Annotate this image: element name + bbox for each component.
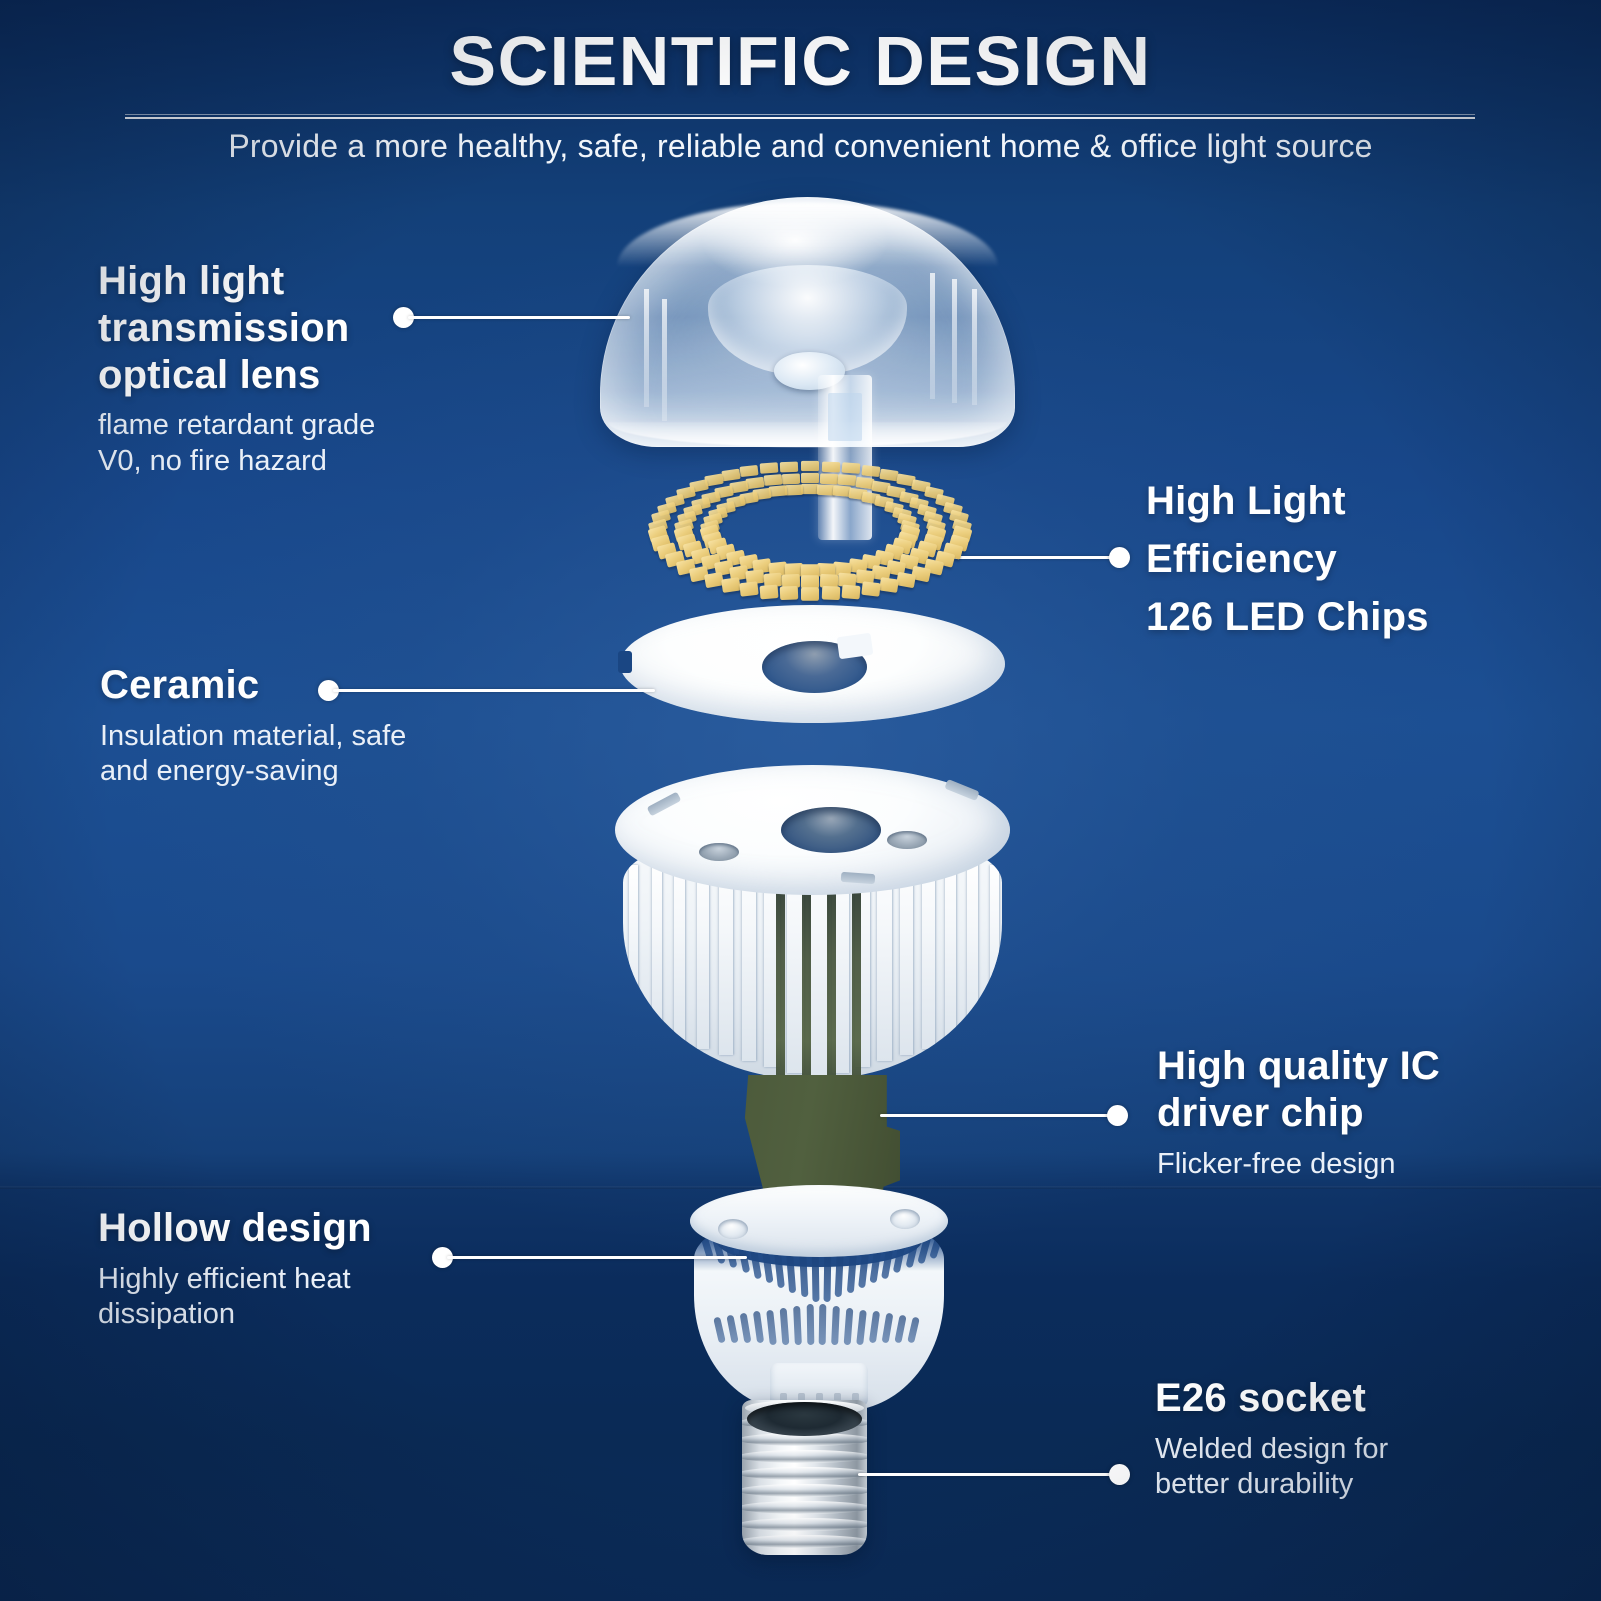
callout-e26-socket: E26 socket Welded design for better dura… xyxy=(1155,1375,1555,1503)
exploded-bulb-diagram xyxy=(0,0,1601,1601)
heat-sink-fin xyxy=(945,857,956,1043)
led-chip xyxy=(740,581,759,596)
led-chip xyxy=(760,584,779,599)
led-chip xyxy=(838,474,857,486)
led-chip xyxy=(746,477,765,489)
hollow-vent-slot-lower xyxy=(894,1315,906,1344)
ceramic-notch xyxy=(837,633,874,660)
led-chip xyxy=(820,473,838,484)
callout-led-chips-heading: High Light Efficiency 126 LED Chips xyxy=(1146,472,1566,646)
callout-optical-lens-heading: High light transmission optical lens xyxy=(98,258,498,398)
led-chip xyxy=(780,586,799,600)
led-chip xyxy=(740,465,759,477)
led-chip xyxy=(861,465,880,477)
callout-ceramic-heading: Ceramic xyxy=(100,662,520,709)
hollow-vent-slot-lower xyxy=(726,1315,738,1344)
heat-sink-fin xyxy=(674,857,685,1043)
lens-fin xyxy=(644,289,649,407)
callout-e26-subtext: Welded design for better durability xyxy=(1155,1432,1555,1503)
leader-dot-e26 xyxy=(1109,1464,1130,1485)
led-chip xyxy=(821,586,840,600)
heat-sink-fin xyxy=(652,861,662,1037)
led-chip xyxy=(821,461,839,472)
led-chip xyxy=(760,463,779,475)
e26-thread xyxy=(742,1484,867,1497)
led-chip xyxy=(801,461,819,471)
led-chip xyxy=(801,473,819,483)
heat-sink-center-hole xyxy=(781,807,881,853)
led-chip xyxy=(842,584,861,599)
led-chip-ring xyxy=(640,455,980,605)
lens-fin xyxy=(662,299,667,421)
hollow-vent-slot-lower xyxy=(807,1304,815,1345)
hollow-vent-slot-lower xyxy=(882,1313,894,1344)
heat-sink-gap xyxy=(776,887,785,1079)
hollow-vent-slot-lower xyxy=(856,1310,867,1346)
led-chip xyxy=(842,463,861,475)
e26-thread xyxy=(742,1467,867,1480)
led-chip xyxy=(721,469,740,482)
led-chip xyxy=(861,581,880,596)
heat-sink-fin xyxy=(629,865,638,1031)
led-chip xyxy=(896,571,916,587)
e26-thread xyxy=(742,1518,867,1531)
heat-sink-fin xyxy=(990,865,999,1031)
e26-mouth xyxy=(747,1402,862,1436)
callout-ceramic-subtext: Insulation material, safe and energy-sav… xyxy=(100,719,520,790)
leader-line-ic xyxy=(880,1114,1112,1117)
hollow-vent-slot-lower xyxy=(793,1306,802,1345)
lens-fin xyxy=(952,279,957,403)
callout-ic-driver-subtext: Flicker-free design xyxy=(1157,1147,1557,1182)
e26-thread xyxy=(742,1501,867,1514)
e26-screw-base xyxy=(742,1400,867,1555)
lens-fin xyxy=(972,289,977,405)
ceramic-disc-part xyxy=(620,605,1005,750)
hollow-base-boss xyxy=(890,1209,920,1229)
led-chip xyxy=(879,577,899,593)
callout-hollow-design: Hollow design Highly efficient heat diss… xyxy=(98,1205,518,1333)
hollow-vent-slot-lower xyxy=(780,1308,790,1345)
callout-ic-driver: High quality IC driver chip Flicker-free… xyxy=(1157,1043,1557,1182)
callout-optical-lens: High light transmission optical lens fla… xyxy=(98,258,498,479)
callout-ceramic: Ceramic Insulation material, safe and en… xyxy=(100,662,520,790)
lens-highlight xyxy=(617,202,999,267)
heat-sink-gap xyxy=(827,887,836,1079)
heat-sink-screw-hole xyxy=(887,831,927,849)
heat-sink-gap xyxy=(802,893,811,1079)
hollow-vent-slot-lower xyxy=(753,1311,764,1344)
callout-led-chips: High Light Efficiency 126 LED Chips xyxy=(1146,472,1566,646)
led-chip xyxy=(879,469,898,482)
leader-dot-ic xyxy=(1107,1105,1128,1126)
heat-sink-part xyxy=(615,765,1010,1095)
heat-sink-gap xyxy=(852,893,861,1079)
leader-line-e26 xyxy=(858,1473,1114,1476)
hollow-vent-slot-lower xyxy=(713,1317,726,1344)
ceramic-side-cut xyxy=(618,651,632,673)
hollow-vent-slot-lower xyxy=(819,1304,827,1345)
hollow-vent-slot-lower xyxy=(766,1310,777,1346)
callout-hollow-heading: Hollow design xyxy=(98,1205,518,1252)
lens-stem-slot xyxy=(828,393,862,441)
callout-hollow-subtext: Highly efficient heat dissipation xyxy=(98,1262,518,1333)
led-chip xyxy=(782,473,800,484)
leader-dot-leds xyxy=(1109,547,1130,568)
hollow-base-boss xyxy=(718,1219,748,1239)
heat-sink-fin xyxy=(967,861,977,1037)
leader-line-leds xyxy=(946,556,1114,559)
callout-optical-lens-subtext: flame retardant grade V0, no fire hazard xyxy=(98,408,498,479)
lens-fin xyxy=(930,273,935,399)
hollow-vent-slot-lower xyxy=(907,1317,920,1344)
callout-e26-heading: E26 socket xyxy=(1155,1375,1555,1422)
hollow-vent-slot-lower xyxy=(831,1306,840,1345)
led-chip xyxy=(721,577,741,593)
hollow-vent-slot-lower xyxy=(869,1311,880,1344)
led-chip xyxy=(801,587,819,600)
hollow-base-cup xyxy=(690,1185,948,1415)
heat-sink-screw-hole xyxy=(699,843,739,861)
e26-thread xyxy=(742,1535,867,1548)
hollow-vent-slot-lower xyxy=(740,1313,752,1344)
led-chip xyxy=(763,474,782,486)
infographic-canvas: SCIENTIFIC DESIGN Provide a more healthy… xyxy=(0,0,1601,1601)
optical-lens-part xyxy=(600,197,1015,447)
callout-ic-driver-heading: High quality IC driver chip xyxy=(1157,1043,1557,1137)
e26-thread xyxy=(742,1450,867,1463)
hollow-vent-slot-lower xyxy=(844,1308,854,1345)
led-chip xyxy=(780,461,798,472)
